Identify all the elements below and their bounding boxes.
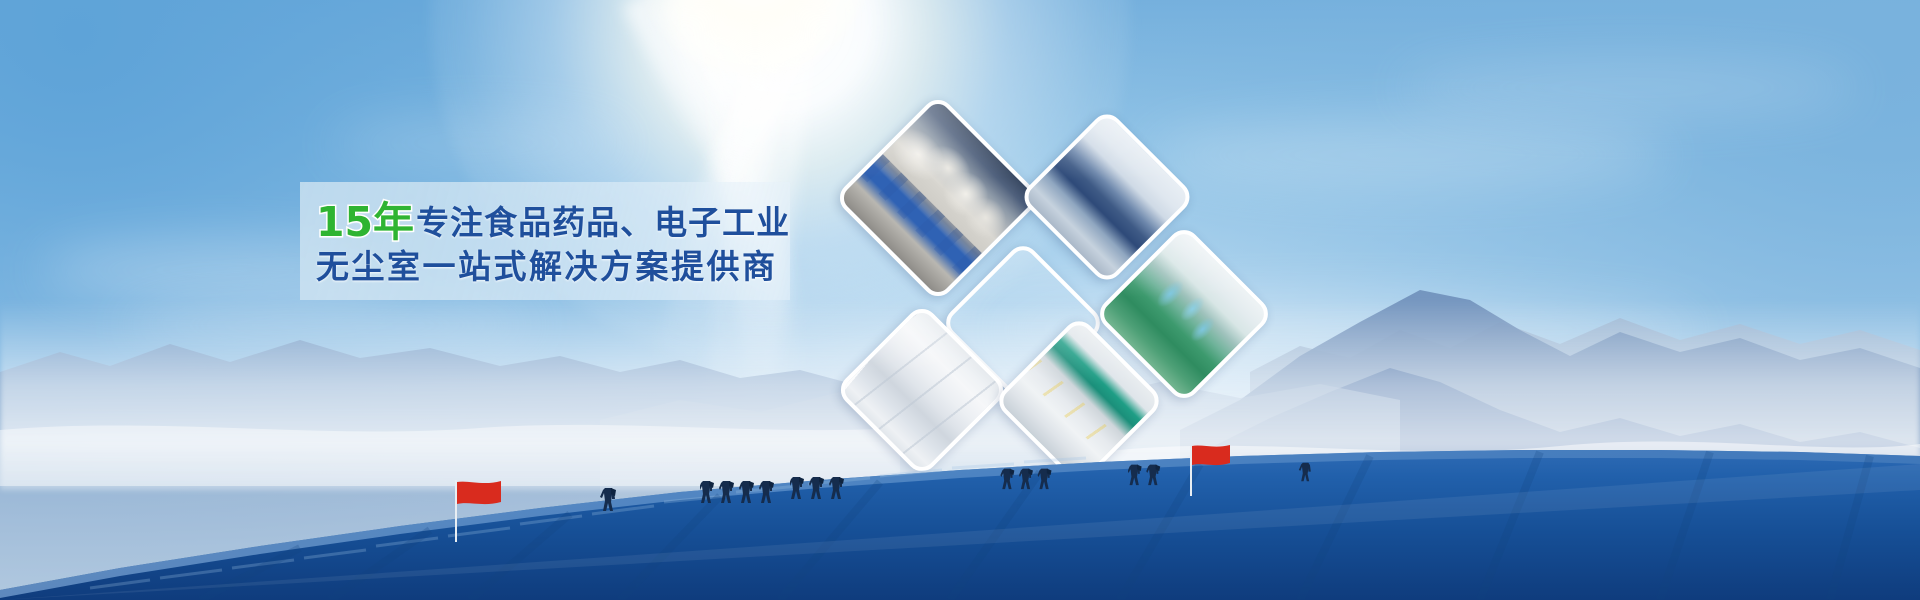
climber-group-a <box>700 476 786 504</box>
foreground-snow-ridge <box>0 380 1920 600</box>
headline-line-1-rest: 专注食品药品、电子工业 <box>416 203 790 242</box>
flag-right <box>1190 446 1230 496</box>
climber-group-b <box>790 472 856 500</box>
headline-line-1: 15年专注食品药品、电子工业 <box>316 200 786 245</box>
climber-group-d <box>1128 460 1172 486</box>
climber-trailing <box>1298 458 1314 482</box>
flag-cloth <box>1192 444 1230 470</box>
flag-left <box>455 480 501 542</box>
years-number: 15年 <box>316 198 414 246</box>
page-title: 15年专注食品药品、电子工业 无尘室一站式解决方案提供商 <box>316 200 786 289</box>
headline-line-2: 无尘室一站式解决方案提供商 <box>316 245 786 289</box>
flag-cloth <box>457 480 501 510</box>
climber-lead <box>600 482 618 512</box>
hero-banner: 15年专注食品药品、电子工业 无尘室一站式解决方案提供商 <box>0 0 1920 600</box>
climber-group-c <box>1000 464 1064 490</box>
